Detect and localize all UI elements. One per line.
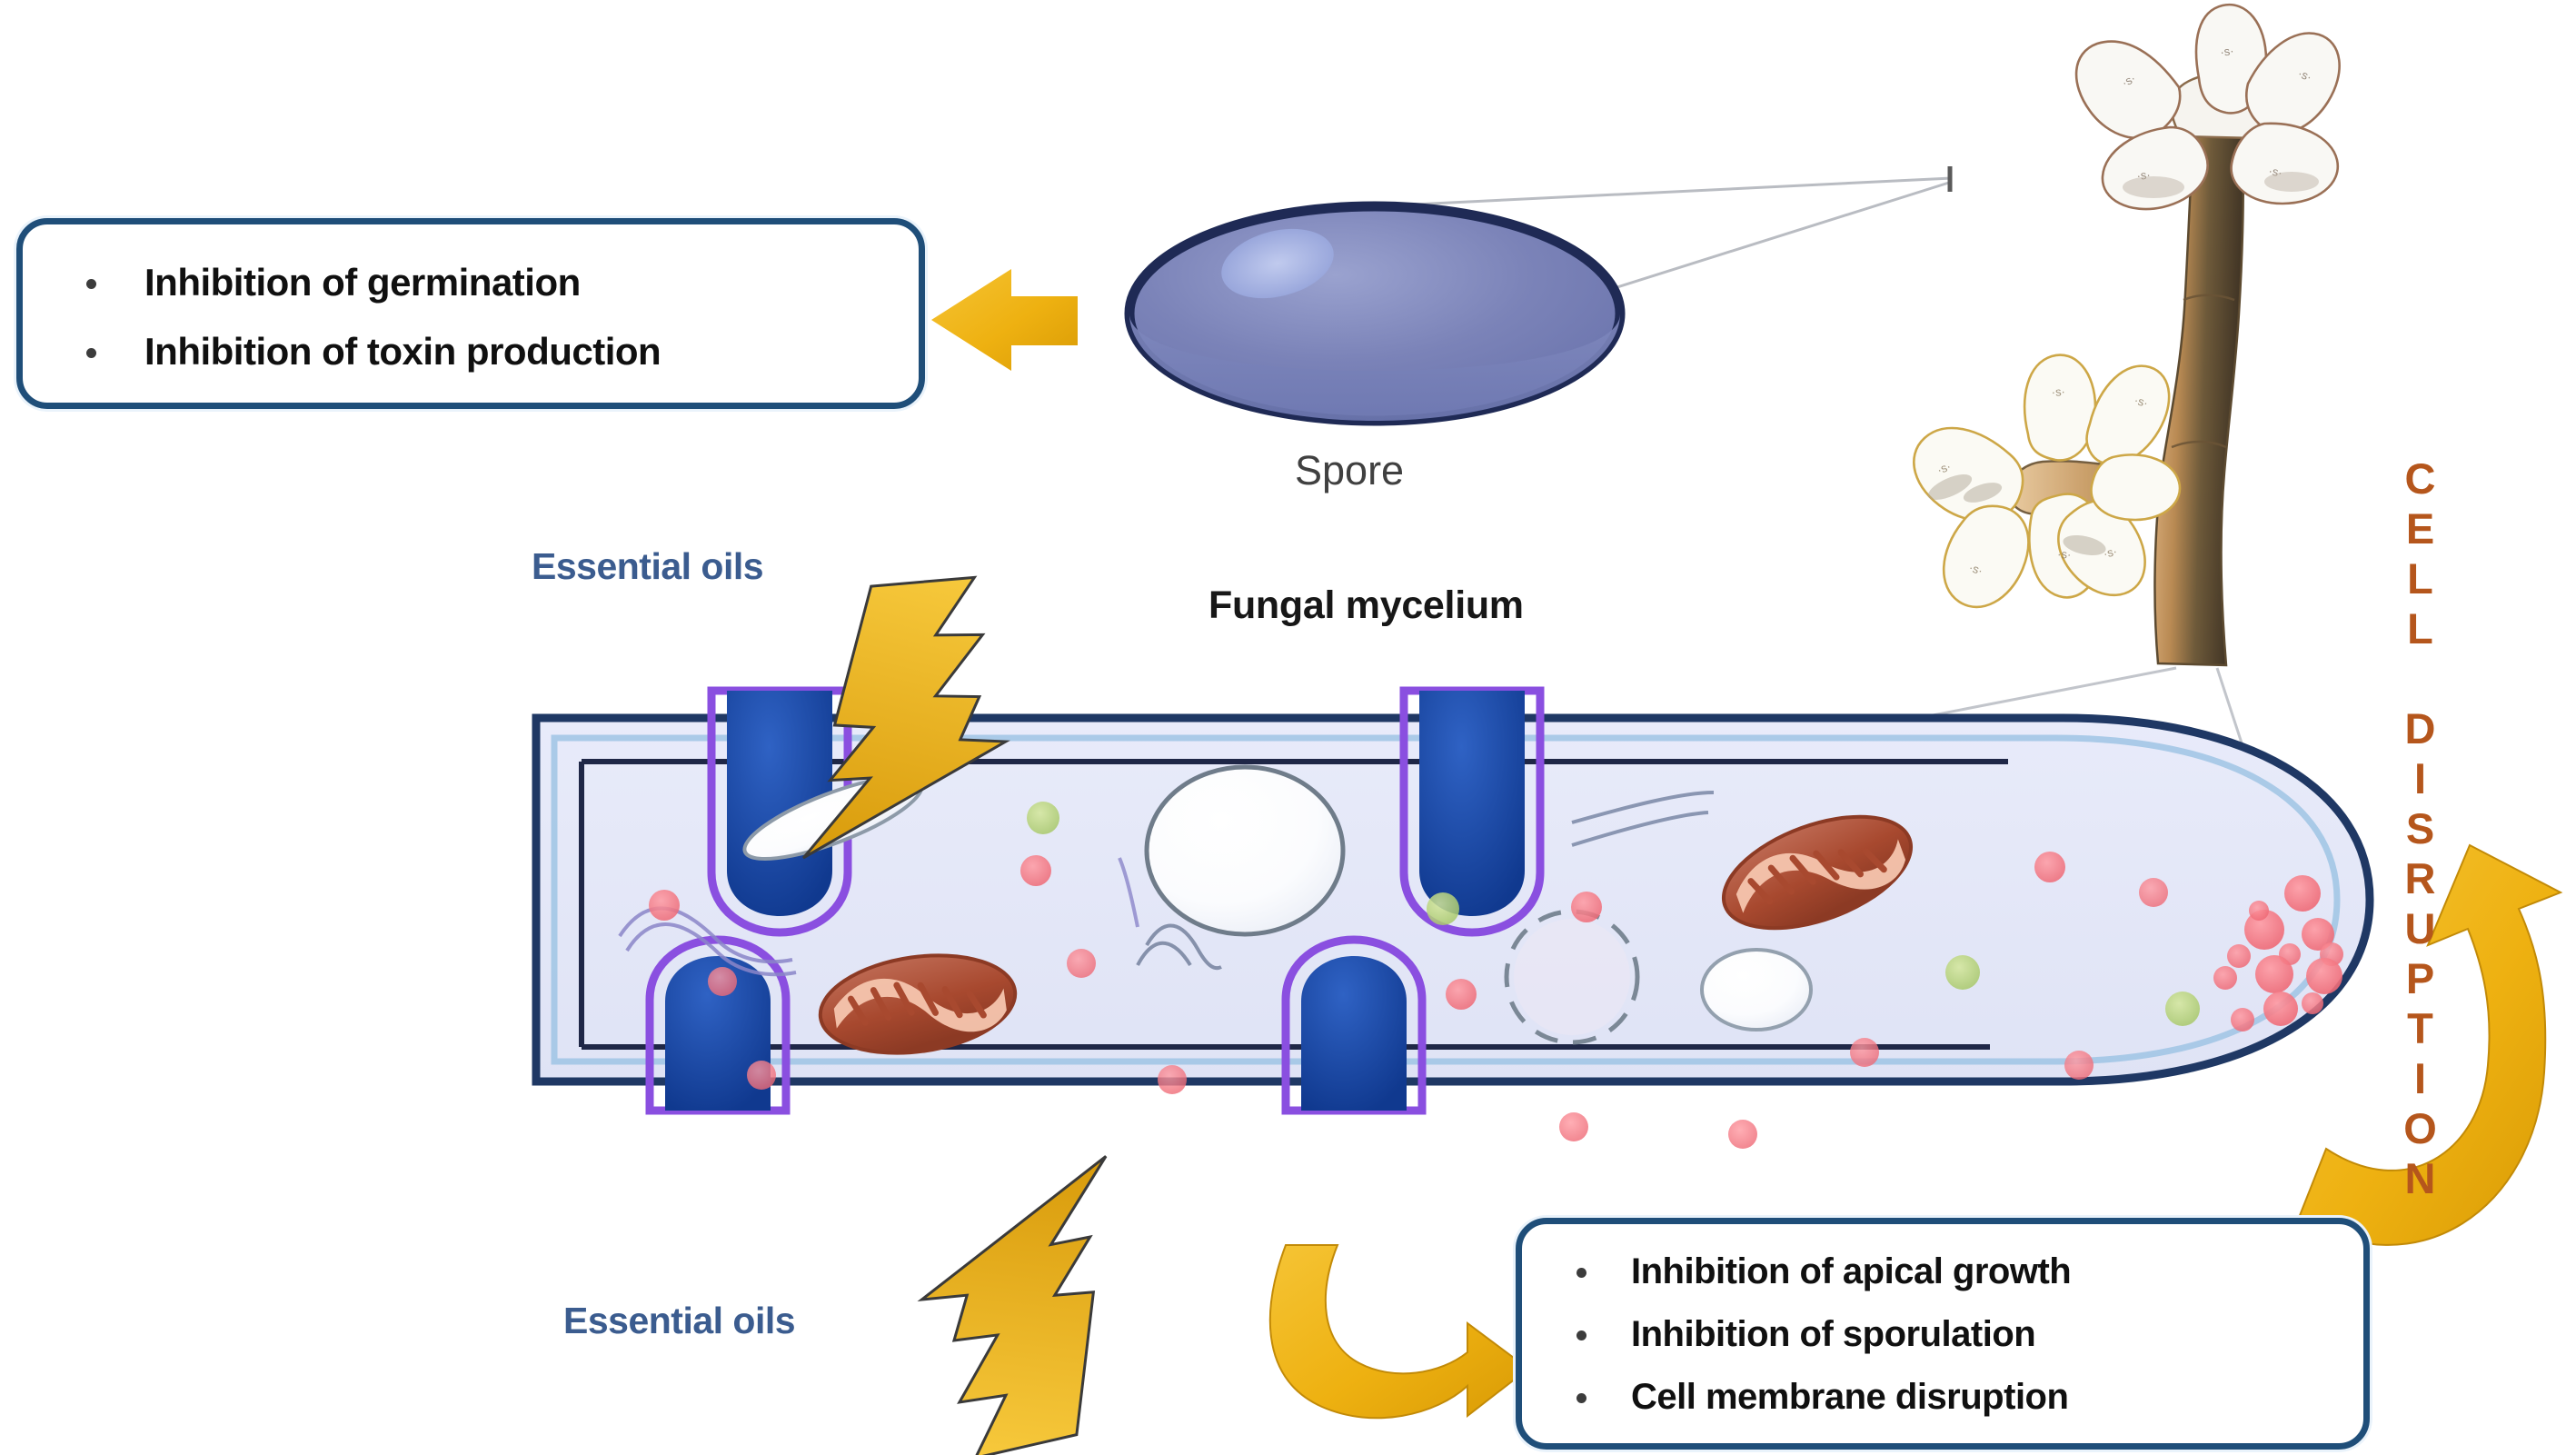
list-item: Inhibition of apical growth xyxy=(1558,1241,2363,1303)
svg-text:·s·: ·s· xyxy=(2057,547,2072,562)
lightning-bolt-icon-bottom xyxy=(906,1139,1108,1455)
spore-effects-list: Inhibition of germination Inhibition of … xyxy=(23,224,919,386)
spore-label: Spore xyxy=(1295,447,1404,494)
essential-oils-label-top: Essential oils xyxy=(532,545,763,588)
svg-text:·s·: ·s· xyxy=(2051,384,2065,399)
list-item: Inhibition of toxin production xyxy=(66,317,919,386)
list-item: Inhibition of germination xyxy=(66,248,919,317)
figure-canvas: ·s· ·s· ·s· ·s· ·s· ·s xyxy=(0,0,2576,1455)
conidiophore-illustration: ·s· ·s· ·s· ·s· ·s· ·s xyxy=(1914,5,2339,665)
left-arrow-icon xyxy=(931,269,1078,371)
list-item: Cell membrane disruption xyxy=(1558,1366,2363,1429)
list-item: Inhibition of sporulation xyxy=(1558,1303,2363,1366)
svg-text:·s·: ·s· xyxy=(2219,44,2234,59)
hyphal-cell xyxy=(536,691,2370,1149)
mycelium-effects-list: Inhibition of apical growth Inhibition o… xyxy=(1522,1224,2363,1429)
spore-illustration xyxy=(1129,206,1620,421)
curved-arrow-icon xyxy=(1270,1245,1528,1418)
vacuole-large xyxy=(1147,767,1343,934)
spore-effects-box: Inhibition of germination Inhibition of … xyxy=(16,218,925,409)
cell-disruption-label: CELL DISRUPTION xyxy=(2399,454,2442,1204)
mycelium-effects-box: Inhibition of apical growth Inhibition o… xyxy=(1516,1218,2370,1450)
vacuole-small xyxy=(1702,950,1811,1030)
fungal-mycelium-label: Fungal mycelium xyxy=(1208,583,1524,628)
essential-oils-label-bottom: Essential oils xyxy=(563,1300,795,1342)
